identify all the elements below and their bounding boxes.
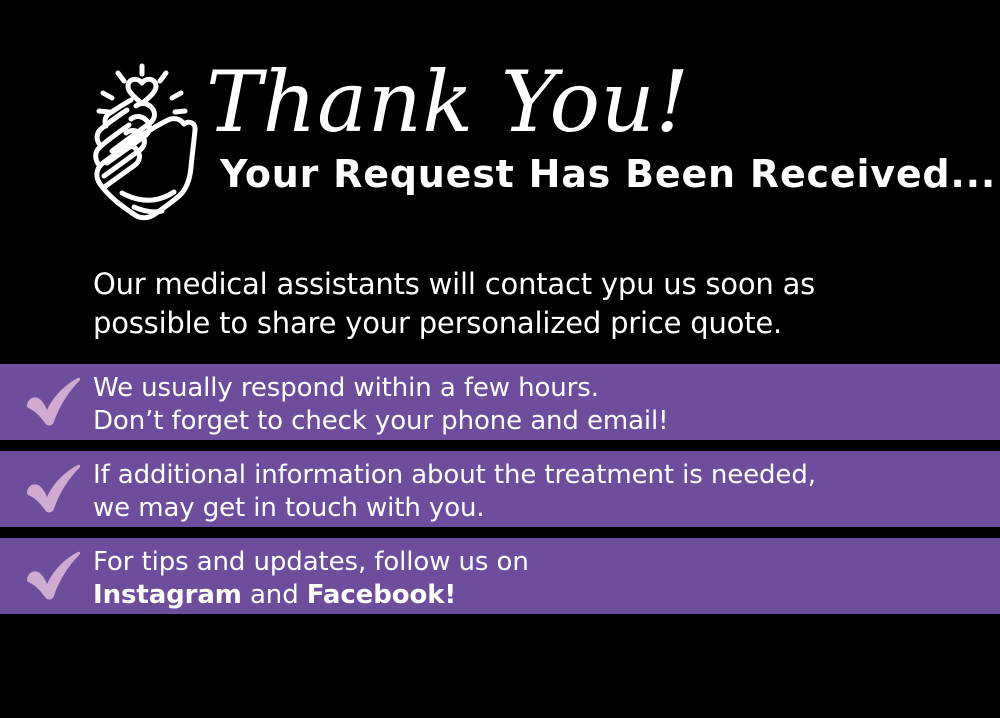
clapping-hands-icon xyxy=(74,62,210,238)
info-band: We usually respond within a few hours. D… xyxy=(0,364,1000,440)
info-band-line-1: If additional information about the trea… xyxy=(93,459,990,492)
info-band-list: We usually respond within a few hours. D… xyxy=(0,364,1000,614)
instagram-link[interactable]: Instagram xyxy=(93,580,242,610)
intro-paragraph: Our medical assistants will contact ypu … xyxy=(93,265,953,342)
info-band: If additional information about the trea… xyxy=(0,451,1000,527)
info-band-line-2: we may get in touch with you. xyxy=(93,492,990,525)
intro-line-2: possible to share your personalized pric… xyxy=(93,304,953,343)
thank-you-page: Thank You! Your Request Has Been Receive… xyxy=(0,0,1000,718)
info-band-text: We usually respond within a few hours. D… xyxy=(93,372,990,439)
facebook-link[interactable]: Facebook! xyxy=(307,580,456,610)
check-icon xyxy=(22,546,84,608)
info-band-text: If additional information about the trea… xyxy=(93,459,990,526)
info-band: For tips and updates, follow us on Insta… xyxy=(0,538,1000,614)
title-block: Thank You! Your Request Has Been Receive… xyxy=(206,62,986,193)
info-band-line-1: For tips and updates, follow us on xyxy=(93,546,990,579)
check-icon xyxy=(22,459,84,521)
page-subtitle: Your Request Has Been Received... xyxy=(220,155,986,193)
page-header: Thank You! Your Request Has Been Receive… xyxy=(0,0,1000,240)
intro-line-1: Our medical assistants will contact ypu … xyxy=(93,265,953,304)
conjunction-text: and xyxy=(242,580,307,610)
info-band-text: For tips and updates, follow us on Insta… xyxy=(93,546,990,613)
info-band-line-1: We usually respond within a few hours. xyxy=(93,372,990,405)
info-band-line-2: Don’t forget to check your phone and ema… xyxy=(93,405,990,438)
info-band-line-2: Instagram and Facebook! xyxy=(93,579,990,612)
page-title: Thank You! xyxy=(206,62,986,143)
check-icon xyxy=(22,372,84,434)
